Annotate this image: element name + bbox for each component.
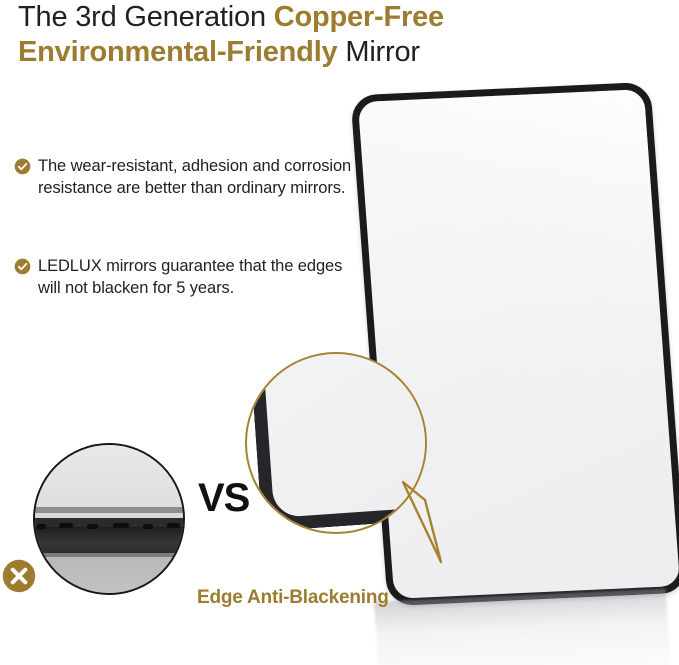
photo-band-base	[33, 557, 185, 595]
feature-text: The wear-resistant, adhesion and corrosi…	[38, 155, 364, 199]
blackened-mirror-edge-photo	[33, 443, 185, 595]
photo-band-dark	[33, 518, 185, 527]
magnifier-pointer-tail	[395, 470, 465, 570]
feature-item-1: The wear-resistant, adhesion and corrosi…	[14, 155, 364, 199]
photo-band-glass	[33, 445, 185, 507]
feature-item-2: LEDLUX mirrors guarantee that the edges …	[14, 255, 364, 299]
photo-band-corrosion	[33, 527, 185, 553]
check-circle-icon	[14, 158, 31, 175]
infographic-canvas: The 3rd Generation Copper-Free Environme…	[0, 0, 679, 665]
check-circle-icon	[14, 258, 31, 275]
mirror-floor-reflection	[374, 588, 673, 665]
x-circle-icon	[1, 558, 37, 594]
title-part-accent-2: Environmental-Friendly	[18, 36, 338, 68]
title-part-accent-1: Copper-Free	[274, 1, 444, 33]
comparison-caption: Edge Anti-Blackening	[197, 587, 389, 609]
vs-label: VS	[198, 476, 249, 521]
title-part-plain-1: The 3rd Generation	[18, 1, 274, 33]
feature-text: LEDLUX mirrors guarantee that the edges …	[38, 255, 364, 299]
